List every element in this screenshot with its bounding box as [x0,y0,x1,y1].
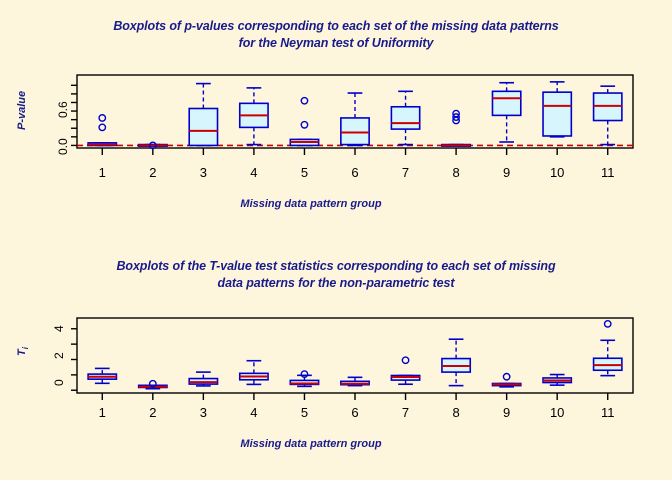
x-axis-title-tvalue: Missing data pattern group [0,438,647,450]
x-tick-label-tvalue-5: 5 [284,405,324,420]
x-tick-label-pvalue-11: 11 [588,165,628,180]
x-tick-label-pvalue-3: 3 [183,165,223,180]
x-tick-label-pvalue-8: 8 [436,165,476,180]
x-tick-label-tvalue-2: 2 [133,405,173,420]
x-tick-label-tvalue-9: 9 [487,405,527,420]
x-tick-label-pvalue-4: 4 [234,165,274,180]
x-tick-label-pvalue-1: 1 [82,165,122,180]
chart-panel-pvalue: Boxplots of p-values corresponding to ea… [0,0,672,240]
x-tick-label-tvalue-11: 11 [588,405,628,420]
x-tick-label-pvalue-2: 2 [133,165,173,180]
x-axis-title-pvalue: Missing data pattern group [0,198,647,210]
x-tick-label-pvalue-7: 7 [386,165,426,180]
x-tick-label-tvalue-7: 7 [386,405,426,420]
x-tick-label-tvalue-4: 4 [234,405,274,420]
x-tick-label-tvalue-6: 6 [335,405,375,420]
x-tick-label-pvalue-6: 6 [335,165,375,180]
x-tick-label-pvalue-9: 9 [487,165,527,180]
chart-panel-tvalue: Boxplots of the T-value test statistics … [0,240,672,480]
x-tick-label-tvalue-10: 10 [537,405,577,420]
x-tick-label-tvalue-8: 8 [436,405,476,420]
x-tick-label-pvalue-10: 10 [537,165,577,180]
x-tick-label-tvalue-3: 3 [183,405,223,420]
x-tick-label-tvalue-1: 1 [82,405,122,420]
x-tick-label-pvalue-5: 5 [284,165,324,180]
